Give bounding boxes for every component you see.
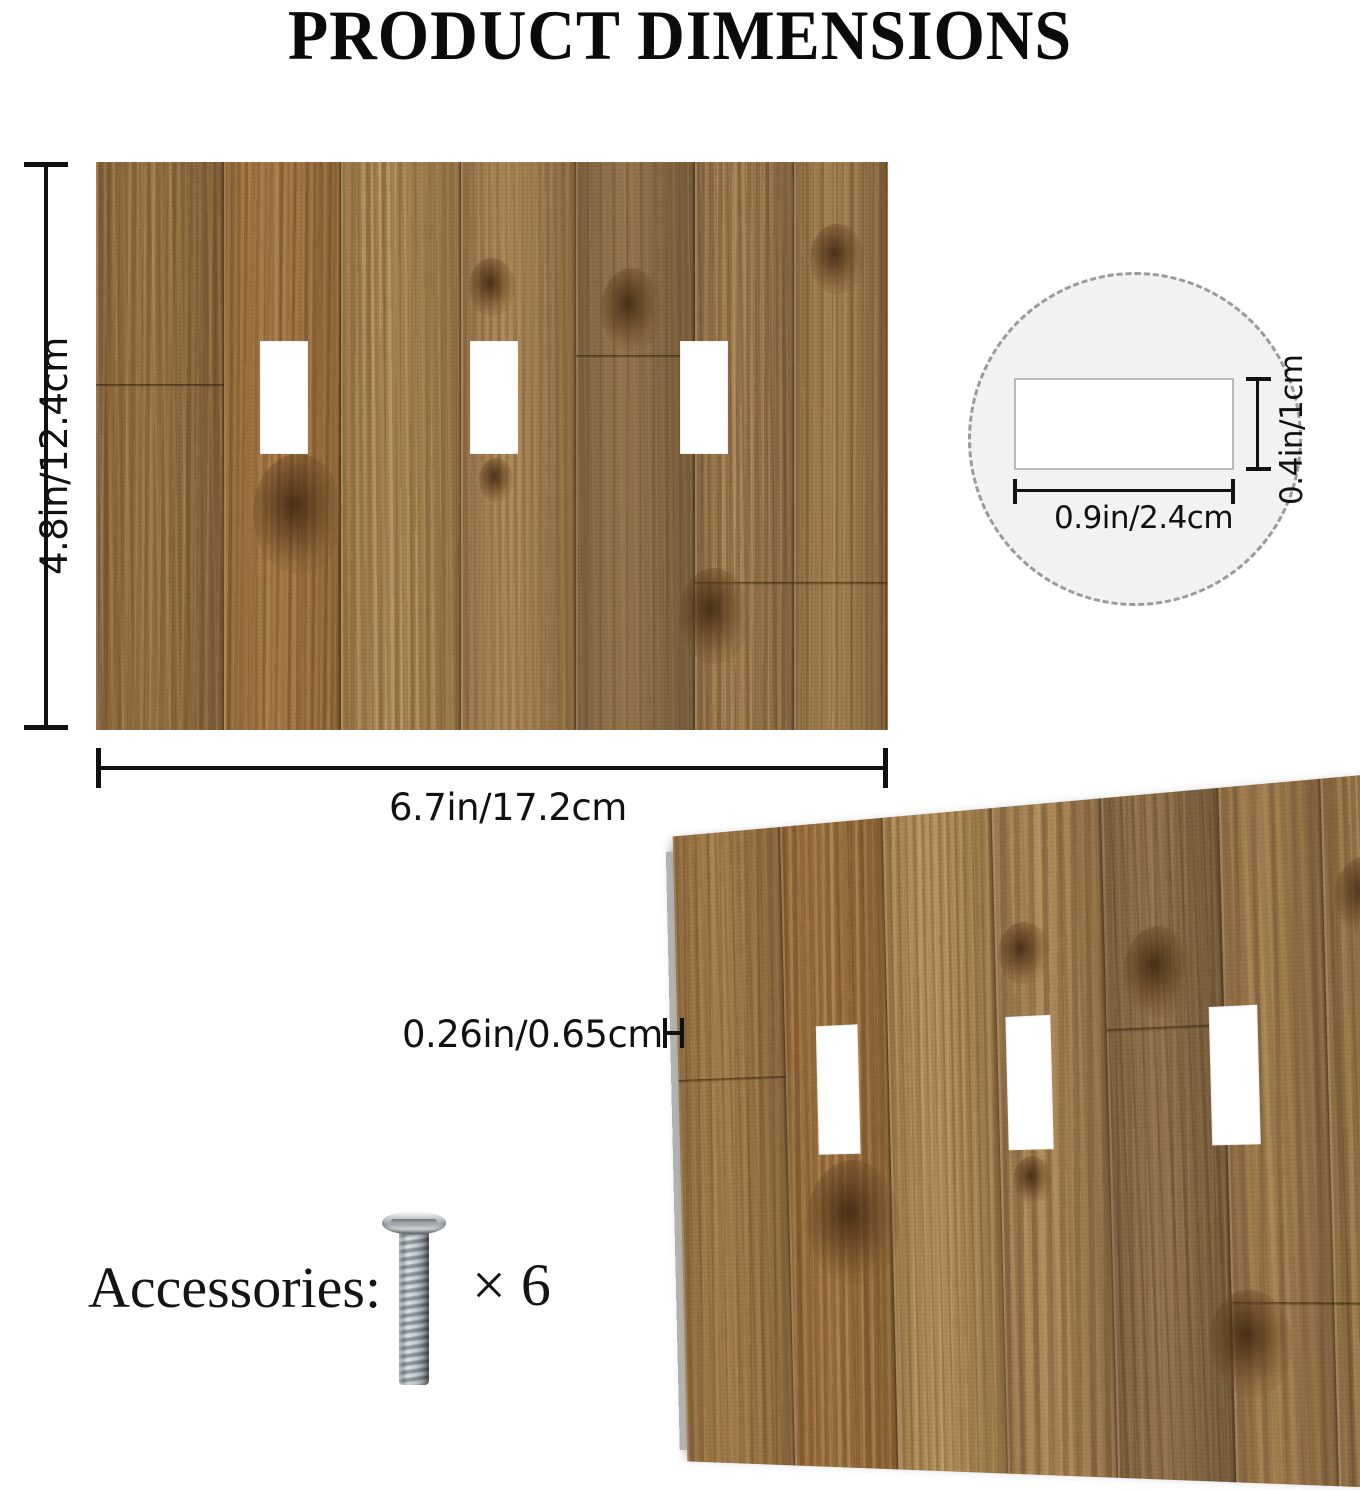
toggle-switch-slot-1	[261, 342, 307, 453]
height-dim-cap-bottom	[24, 725, 68, 730]
page-title: PRODUCT DIMENSIONS	[48, 0, 1313, 77]
plank-seam	[96, 384, 224, 387]
wood-knot	[479, 458, 513, 502]
thickness-dimension-label: 0.26in/0.65cm	[402, 1013, 663, 1056]
accessories-label: Accessories:	[88, 1254, 381, 1321]
wood-plank	[673, 827, 795, 1465]
toggle-switch-slot-2	[471, 342, 517, 453]
toggle-switch-slot-1	[817, 1025, 860, 1153]
toggle-switch-slot-2	[1006, 1016, 1052, 1149]
slot-detail-rectangle	[1014, 378, 1234, 470]
screw-head-slot	[391, 1219, 437, 1224]
width-dim-line	[96, 766, 888, 770]
wood-knot	[810, 224, 864, 294]
wood-knot	[469, 258, 515, 316]
wood-plank	[882, 808, 1008, 1474]
slot-width-line	[1013, 489, 1235, 492]
screw-head	[382, 1212, 446, 1234]
height-dimension-label: 4.8in/12.4cm	[33, 337, 76, 575]
width-dimension-label: 6.7in/17.2cm	[389, 786, 627, 829]
product-angled-view	[660, 836, 1360, 1461]
slot-height-label: 0.4in/1cm	[1274, 355, 1310, 505]
toggle-switch-slot-3	[1210, 1006, 1260, 1144]
wood-plank	[576, 162, 695, 730]
plank-seam	[1334, 1302, 1360, 1306]
plank-seam	[576, 355, 695, 358]
wood-knot	[601, 268, 661, 352]
wood-plank	[96, 162, 224, 730]
slot-height-line	[1256, 377, 1259, 470]
thickness-marker-icon	[663, 1018, 685, 1048]
screw-icon	[382, 1212, 446, 1387]
wood-plank	[341, 162, 461, 730]
slot-width-label: 0.9in/2.4cm	[1054, 500, 1233, 536]
width-dim-cap-right	[883, 748, 888, 788]
product-angled-face	[673, 770, 1360, 1490]
wood-knot	[253, 454, 343, 574]
slot-height-cap-bottom	[1246, 467, 1271, 471]
product-front-view	[96, 162, 888, 730]
screw-shaft	[399, 1231, 429, 1385]
wood-knot	[679, 568, 749, 664]
plank-seam	[794, 582, 887, 585]
toggle-switch-slot-3	[681, 342, 727, 453]
wood-knot	[1013, 1156, 1052, 1204]
accessories-count: × 6	[472, 1251, 551, 1320]
